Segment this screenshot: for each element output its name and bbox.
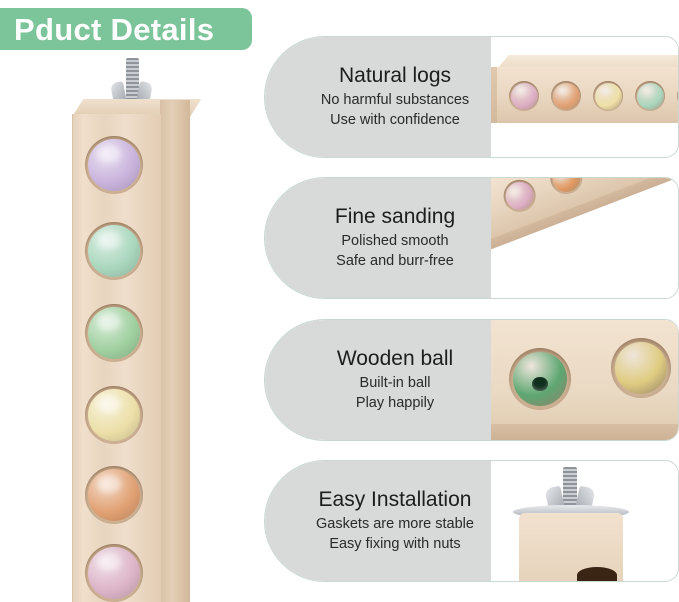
pink-ball	[88, 547, 140, 599]
ball-hole	[85, 386, 143, 444]
feature-text-pill: Easy Installation Gaskets are more stabl…	[265, 461, 491, 581]
feature-row-wooden-ball: Wooden ball Built-in ball Play happily	[264, 319, 679, 441]
product-details-infographic: Pduct Details Natural logs No harmful su…	[0, 0, 679, 602]
block-hole	[577, 567, 617, 581]
ball-hole	[592, 178, 633, 181]
feature-photo-natural-logs	[491, 37, 678, 157]
feature-photo-fine-sanding	[491, 178, 678, 298]
colored-ball	[637, 83, 664, 110]
feature-subtitle-1: Built-in ball	[360, 374, 431, 394]
ball-hole	[499, 178, 540, 217]
ball-hole	[85, 136, 143, 194]
feature-text-pill: Fine sanding Polished smooth Safe and bu…	[265, 178, 491, 298]
colored-ball	[595, 83, 622, 110]
ball-hole	[546, 178, 587, 199]
feature-subtitle-2: Easy fixing with nuts	[329, 535, 460, 555]
colored-ball	[501, 178, 538, 214]
ball-hole	[635, 81, 665, 111]
feature-row-fine-sanding: Fine sanding Polished smooth Safe and bu…	[264, 177, 679, 299]
feature-text-pill: Natural logs No harmful substances Use w…	[265, 37, 491, 157]
post-side-face	[160, 100, 190, 602]
page-title: Pduct Details	[14, 14, 214, 45]
colored-ball	[511, 83, 538, 110]
pale-yellow-ball	[88, 389, 140, 441]
header-banner: Pduct Details	[0, 8, 252, 50]
feature-subtitle-1: Polished smooth	[341, 232, 448, 252]
feature-title: Natural logs	[339, 64, 451, 88]
gold-ball	[615, 342, 668, 395]
ball-hole	[85, 544, 143, 602]
colored-ball	[594, 178, 631, 179]
feature-title: Easy Installation	[319, 488, 472, 512]
feature-row-natural-logs: Natural logs No harmful substances Use w…	[264, 36, 679, 158]
ball-hole	[551, 81, 581, 111]
block-front-face	[519, 513, 623, 581]
ball-cup	[509, 348, 571, 410]
green-ball-with-hole	[513, 352, 568, 407]
feature-rows: Natural logs No harmful substances Use w…	[264, 36, 679, 602]
ball-cup	[611, 338, 671, 398]
lavender-ball	[88, 139, 140, 191]
vertical-wooden-post	[72, 114, 190, 602]
mint-ball	[88, 225, 140, 277]
feature-row-easy-installation: Easy Installation Gaskets are more stabl…	[264, 460, 679, 582]
feature-subtitle-1: Gaskets are more stable	[316, 515, 474, 535]
ball-hole	[85, 222, 143, 280]
ball-hole	[593, 81, 623, 111]
ball-through-hole	[532, 377, 547, 391]
feature-subtitle-2: Safe and burr-free	[336, 252, 454, 272]
ball-hole	[509, 81, 539, 111]
colored-ball	[548, 178, 585, 197]
feature-title: Wooden ball	[337, 347, 453, 371]
feature-subtitle-2: Use with confidence	[330, 111, 460, 131]
ball-hole	[677, 81, 678, 111]
feature-text-pill: Wooden ball Built-in ball Play happily	[265, 320, 491, 440]
board-bottom-edge	[491, 424, 678, 440]
feature-subtitle-2: Play happily	[356, 394, 434, 414]
feature-photo-easy-installation	[491, 461, 678, 581]
colored-ball	[553, 83, 580, 110]
green-ball	[88, 307, 140, 359]
orange-ball	[88, 469, 140, 521]
hero-product-photo	[0, 52, 258, 602]
feature-title: Fine sanding	[335, 205, 455, 229]
ball-hole	[85, 304, 143, 362]
log-front-face	[497, 67, 678, 123]
feature-subtitle-1: No harmful substances	[321, 91, 469, 111]
feature-photo-wooden-ball	[491, 320, 678, 440]
ball-hole	[85, 466, 143, 524]
